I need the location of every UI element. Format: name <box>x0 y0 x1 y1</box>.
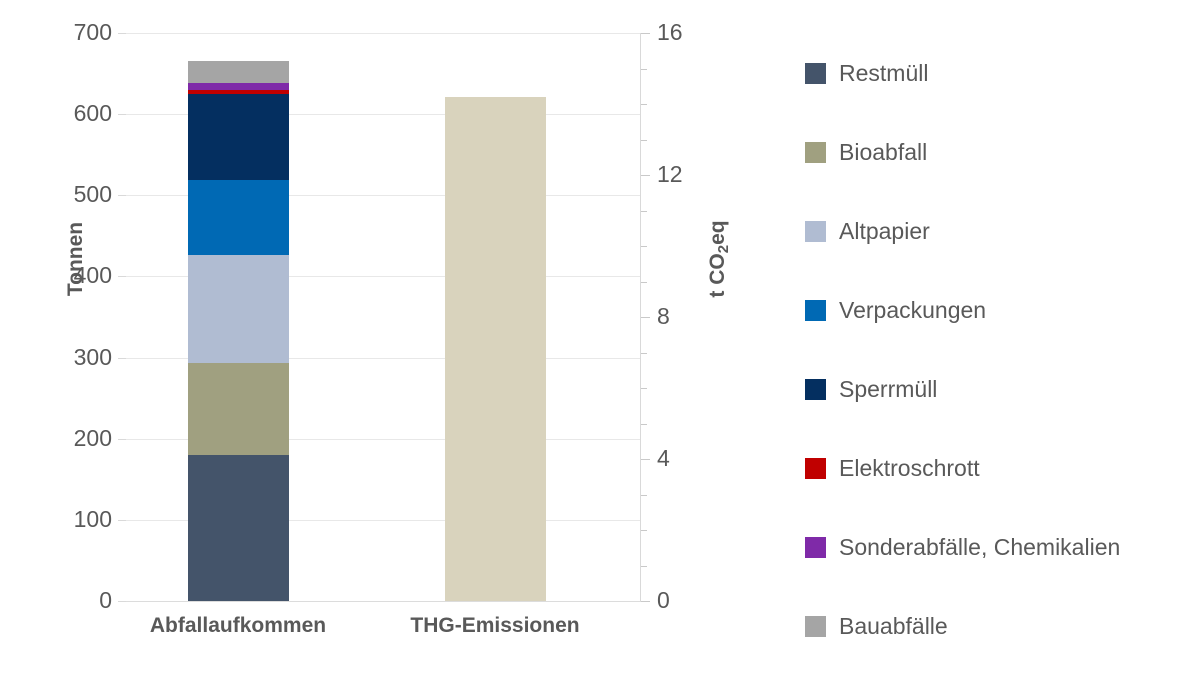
bar-segment[interactable] <box>188 363 289 455</box>
bar-segment[interactable] <box>188 255 289 364</box>
y-axis-right-minor-tick-mark <box>641 388 647 389</box>
y-axis-left-tick-label: 300 <box>42 346 112 369</box>
legend-swatch-icon <box>805 63 826 84</box>
bar-segment[interactable] <box>188 180 289 255</box>
legend-item-label: Altpapier <box>839 220 930 243</box>
y-axis-right-tick-mark <box>641 175 650 176</box>
y-axis-right-tick-label: 4 <box>657 447 717 470</box>
legend-swatch-icon <box>805 537 826 558</box>
y-axis-left-tick-mark <box>118 601 126 602</box>
legend-item-label: Elektroschrott <box>839 457 980 480</box>
y-axis-left-tick-label: 700 <box>42 21 112 44</box>
y-axis-left-tick-mark <box>118 276 126 277</box>
y-axis-left-tick-mark <box>118 33 126 34</box>
legend-swatch-icon <box>805 300 826 321</box>
y-axis-left-tick-label: 100 <box>42 508 112 531</box>
y-axis-right-title-suffix: eq <box>706 220 729 245</box>
legend-swatch-icon <box>805 379 826 400</box>
y-axis-left-tick-label: 0 <box>42 589 112 612</box>
y-axis-right-minor-tick-mark <box>641 566 647 567</box>
legend-item[interactable]: Sperrmüll <box>805 376 937 402</box>
y-axis-right-tick-label: 16 <box>657 21 717 44</box>
stacked-bar-abfallaufkommen[interactable] <box>188 33 289 601</box>
legend-item[interactable]: Bioabfall <box>805 139 927 165</box>
legend-item-label: Sonderabfälle, Chemikalien <box>839 536 1120 559</box>
plot-area <box>126 33 640 601</box>
legend-item-label: Bioabfall <box>839 141 927 164</box>
legend-item[interactable]: Elektroschrott <box>805 455 980 481</box>
y-axis-right-tick-mark <box>641 459 650 460</box>
y-axis-right-minor-tick-mark <box>641 211 647 212</box>
bar-segment[interactable] <box>188 83 289 89</box>
y-axis-right-tick-label: 0 <box>657 589 717 612</box>
legend-item[interactable]: Sonderabfälle, Chemikalien <box>805 534 1120 560</box>
legend-swatch-icon <box>805 221 826 242</box>
y-axis-right-tick-mark <box>641 601 650 602</box>
y-axis-left-tick-mark <box>118 520 126 521</box>
legend-item[interactable]: Bauabfälle <box>805 613 948 639</box>
legend-item-label: Restmüll <box>839 62 928 85</box>
legend-item[interactable]: Restmüll <box>805 60 928 86</box>
x-axis-category-label: Abfallaufkommen <box>88 614 388 638</box>
bar-segment[interactable] <box>188 94 289 180</box>
y-axis-right-title: t CO2eq <box>706 189 730 329</box>
y-axis-left-tick-mark <box>118 358 126 359</box>
bar-segment[interactable] <box>188 61 289 84</box>
y-axis-right-minor-tick-mark <box>641 530 647 531</box>
y-axis-right-minor-tick-mark <box>641 140 647 141</box>
y-axis-right-minor-tick-mark <box>641 104 647 105</box>
legend-item[interactable]: Altpapier <box>805 218 930 244</box>
y-axis-right-tick-mark <box>641 33 650 34</box>
y-axis-right-minor-tick-mark <box>641 69 647 70</box>
y-axis-left-tick-label: 600 <box>42 102 112 125</box>
y-axis-right-minor-tick-mark <box>641 246 647 247</box>
y-axis-left-tick-mark <box>118 195 126 196</box>
y-axis-right-title-prefix: t CO <box>706 253 729 297</box>
bar-segment[interactable] <box>188 455 289 601</box>
y-axis-left-tick-mark <box>118 439 126 440</box>
y-axis-right-minor-tick-mark <box>641 424 647 425</box>
y-axis-right-tick-label: 12 <box>657 163 717 186</box>
y-axis-right-minor-tick-mark <box>641 495 647 496</box>
legend-item-label: Bauabfälle <box>839 615 948 638</box>
y-axis-left-tick-label: 200 <box>42 427 112 450</box>
y-axis-left-tick-mark <box>118 114 126 115</box>
gridline <box>126 601 640 602</box>
legend-item[interactable]: Verpackungen <box>805 297 986 323</box>
legend-item-label: Verpackungen <box>839 299 986 322</box>
y-axis-right-title-subscript: 2 <box>715 245 732 253</box>
chart-container: 0100200300400500600700 Tonnen 0481216 t … <box>0 0 1200 692</box>
legend-item-label: Sperrmüll <box>839 378 937 401</box>
y-axis-right-minor-tick-mark <box>641 353 647 354</box>
y-axis-right-minor-tick-mark <box>641 282 647 283</box>
bar-segment[interactable] <box>188 90 289 94</box>
legend-swatch-icon <box>805 142 826 163</box>
legend-swatch-icon <box>805 616 826 637</box>
y-axis-left-title: Tonnen <box>64 189 88 329</box>
y-axis-right-tick-mark <box>641 317 650 318</box>
x-axis-category-label: THG-Emissionen <box>345 614 645 638</box>
bar-thg-emissionen[interactable] <box>445 97 546 601</box>
legend-swatch-icon <box>805 458 826 479</box>
